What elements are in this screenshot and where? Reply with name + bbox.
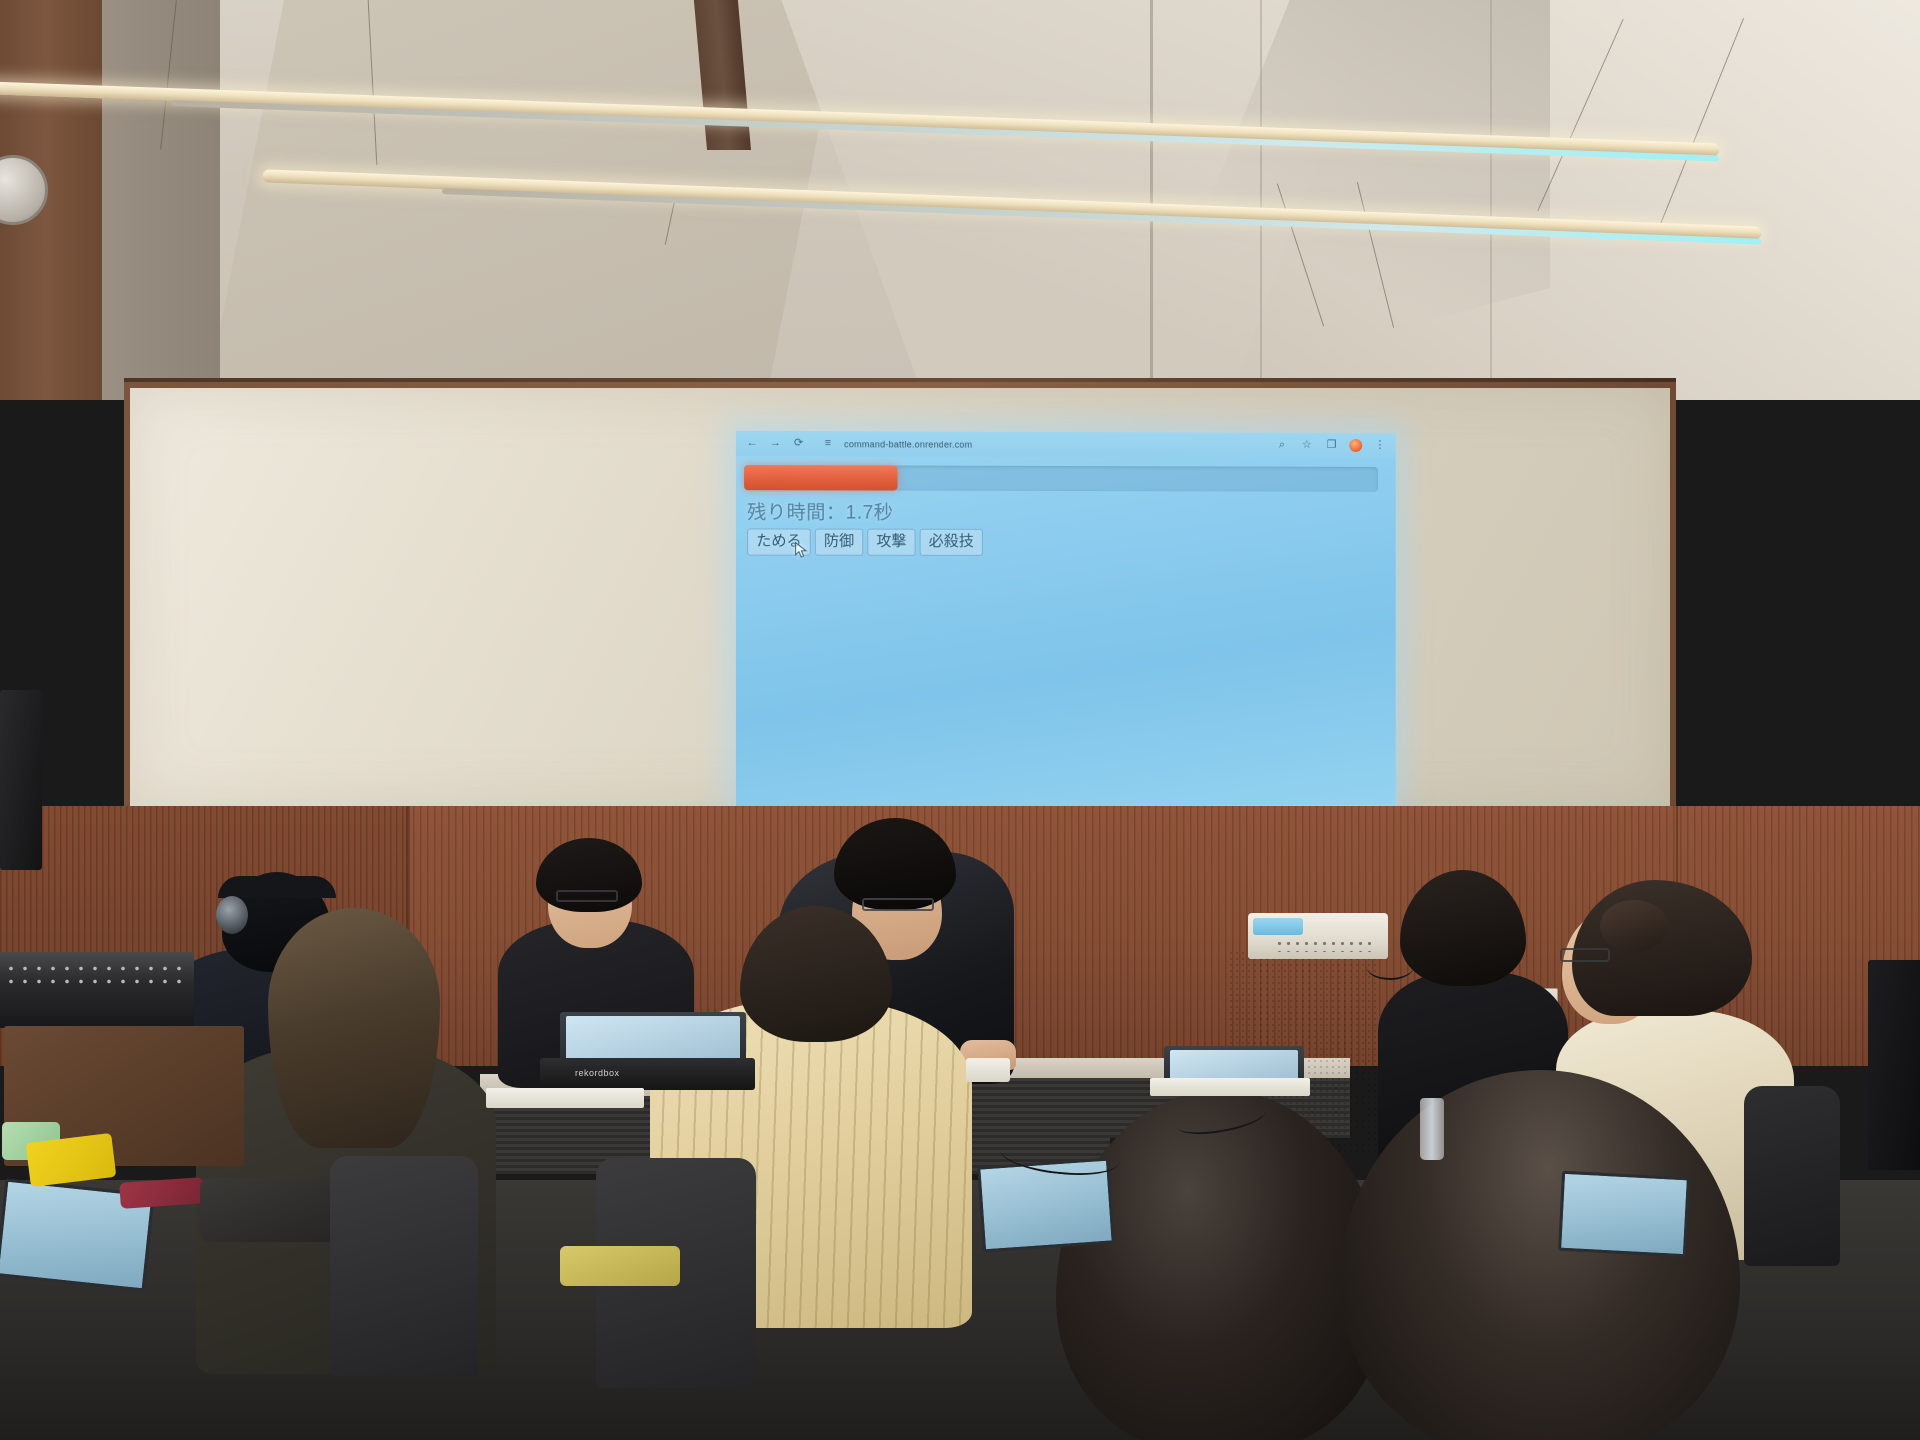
ceiling-seam-2 xyxy=(1260,0,1262,400)
ceiling-seam-3 xyxy=(1490,0,1492,400)
hp-bar-fill xyxy=(744,465,898,491)
wall-speaker-right xyxy=(1868,960,1920,1170)
hp-bar-track xyxy=(744,465,1378,492)
presenter-glasses-icon xyxy=(556,890,618,902)
lecture-room-scene: ← → ⟳ ≡ command-battle.onrender.com ⌕ ☆ … xyxy=(0,0,1920,1440)
desk-tablet-right xyxy=(1558,1171,1690,1258)
command-button-defend[interactable]: 防御 xyxy=(815,529,863,556)
bookmark-star-icon[interactable]: ☆ xyxy=(1300,438,1314,452)
projected-browser-window: ← → ⟳ ≡ command-battle.onrender.com ⌕ ☆ … xyxy=(736,431,1396,807)
yellow-bag-under-desk xyxy=(560,1246,680,1286)
back-icon[interactable]: ← xyxy=(745,436,759,450)
site-info-icon[interactable]: ≡ xyxy=(821,437,835,451)
overflow-menu-icon[interactable]: ⋮ xyxy=(1373,439,1387,453)
command-button-special[interactable]: 必殺技 xyxy=(920,529,983,556)
chair-left xyxy=(330,1156,478,1376)
headphone-cup-icon xyxy=(216,896,248,934)
water-bottle xyxy=(1420,1098,1444,1160)
address-bar-url[interactable]: command-battle.onrender.com xyxy=(844,439,972,449)
profile-avatar[interactable] xyxy=(1349,439,1362,452)
forward-icon[interactable]: → xyxy=(768,436,782,450)
desk-papers-right xyxy=(1150,1078,1310,1096)
mouse-cursor-icon xyxy=(795,542,810,559)
command-button-row: ためる 防御 攻撃 必殺技 xyxy=(747,528,1385,556)
remaining-time-label: 残り時間：1.7秒 xyxy=(747,497,1385,525)
olive-hoodie-hair xyxy=(268,908,440,1148)
cream-shirt-glasses-icon xyxy=(1560,948,1610,962)
game-page-body: 残り時間：1.7秒 ためる 防御 攻撃 必殺技 xyxy=(736,456,1396,807)
reload-icon[interactable]: ⟳ xyxy=(792,436,806,450)
chair-right xyxy=(1744,1086,1840,1266)
projector-ports xyxy=(1275,939,1371,952)
command-button-attack[interactable]: 攻撃 xyxy=(867,529,915,556)
wall-speaker-left xyxy=(0,690,42,870)
dj-controller-brand-label: rekordbox xyxy=(575,1068,620,1078)
mixer-knobs xyxy=(4,962,188,988)
split-tab-icon[interactable]: ❐ xyxy=(1325,438,1339,452)
desk-papers-left xyxy=(486,1088,644,1108)
standing-person-glasses-icon xyxy=(862,898,934,911)
projector-lens xyxy=(1253,918,1303,935)
browser-toolbar: ← → ⟳ ≡ command-battle.onrender.com ⌕ ☆ … xyxy=(736,431,1396,458)
dj-controller xyxy=(540,1058,755,1090)
wall-segment-left xyxy=(102,0,220,400)
zoom-search-icon[interactable]: ⌕ xyxy=(1275,438,1289,452)
desk-small-box xyxy=(966,1058,1010,1082)
ceiling-seam-1 xyxy=(1150,0,1153,400)
hair-bun xyxy=(1600,900,1668,952)
snack-yellow xyxy=(26,1133,117,1187)
headphone-band-icon xyxy=(218,876,336,898)
toolbar-right-group: ⌕ ☆ ❐ ⋮ xyxy=(1275,438,1387,452)
